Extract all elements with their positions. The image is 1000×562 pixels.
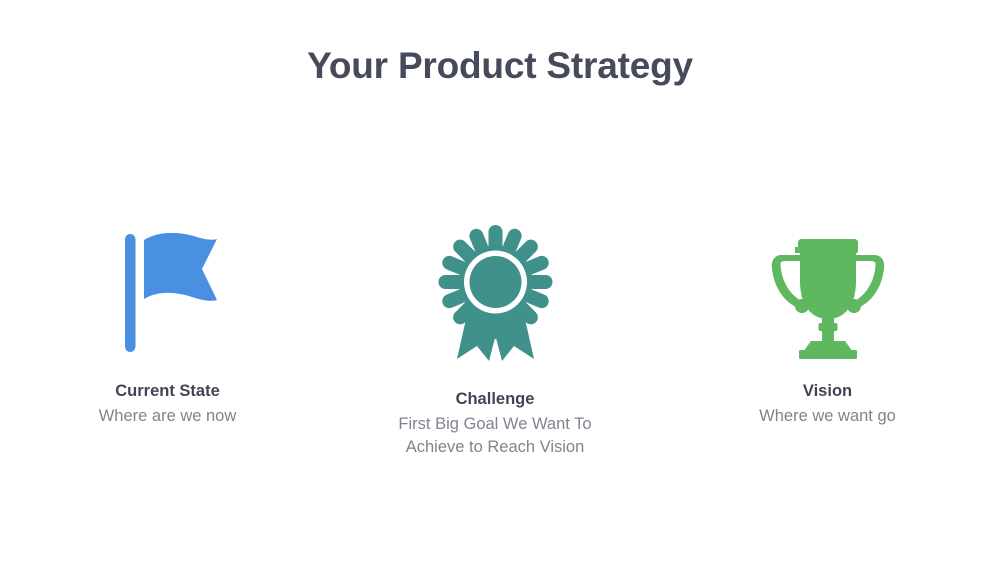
slide-canvas: Your Product Strategy Current State Wher… xyxy=(0,0,1000,562)
column-heading: Vision xyxy=(803,381,852,402)
strategy-columns: Current State Where are we now xyxy=(0,216,1000,459)
strategy-column-current-state[interactable]: Current State Where are we now xyxy=(0,216,335,428)
column-subtext: Where we want go xyxy=(759,405,896,428)
award-ribbon-icon xyxy=(438,216,553,366)
flag-icon xyxy=(113,216,223,361)
trophy-icon xyxy=(769,216,887,361)
column-heading: Current State xyxy=(115,381,220,402)
column-subtext: First Big Goal We Want To Achieve to Rea… xyxy=(398,413,591,460)
column-subtext: Where are we now xyxy=(99,405,237,428)
strategy-column-challenge[interactable]: Challenge First Big Goal We Want To Achi… xyxy=(335,216,655,459)
column-heading: Challenge xyxy=(456,389,535,410)
strategy-column-vision[interactable]: Vision Where we want go xyxy=(655,216,1000,428)
page-title: Your Product Strategy xyxy=(0,44,1000,88)
